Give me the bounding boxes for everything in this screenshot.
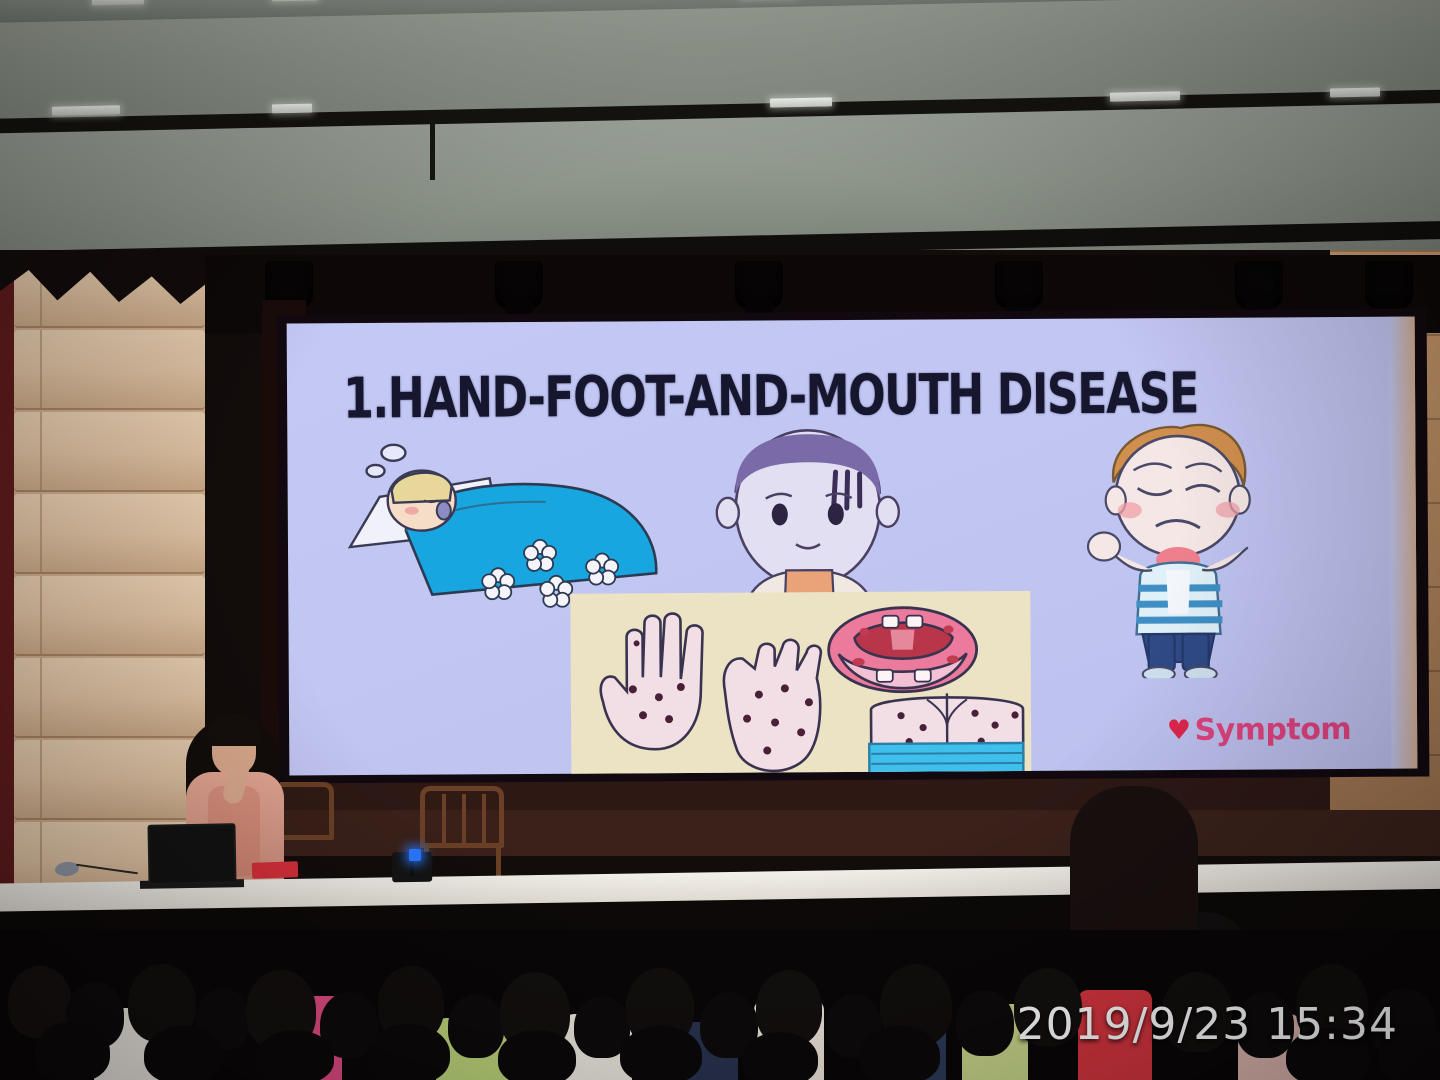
screen-light-spill <box>1389 317 1418 769</box>
buttocks-rash-icon <box>869 693 1023 774</box>
ceiling-light <box>52 105 120 115</box>
mouth-ulcer-icon <box>828 607 977 692</box>
projection-screen: 1.HAND-FOOT-AND-MOUTH DISEASE <box>287 317 1418 776</box>
red-folder <box>252 861 299 879</box>
projection-screen-frame: 1.HAND-FOOT-AND-MOUTH DISEASE <box>277 308 1430 783</box>
symptom-logo: ♥ Symptom <box>1167 712 1352 748</box>
ceiling-light <box>1330 87 1380 97</box>
ceiling <box>0 0 1440 252</box>
timestamp-overlay: 2019/9/23 15:34 <box>1017 999 1398 1050</box>
hanging-rod <box>430 118 435 180</box>
stage-spotlight <box>995 261 1043 309</box>
ceiling-light <box>770 97 832 107</box>
foot-rash-icon <box>724 640 822 772</box>
ceiling-light <box>1110 91 1180 101</box>
rash-symptom-panel <box>570 591 1031 776</box>
stage-spotlight <box>1235 261 1283 309</box>
laptop <box>147 823 236 885</box>
heart-icon: ♥ <box>1167 717 1191 744</box>
stage-spotlight <box>735 261 783 309</box>
symptom-logo-text: Symptom <box>1194 712 1351 748</box>
wall-accent-strip <box>0 258 14 898</box>
photo-scene: 1.HAND-FOOT-AND-MOUTH DISEASE <box>0 0 1440 1080</box>
ceiling-light <box>272 104 312 114</box>
hand-rash-icon <box>600 613 703 749</box>
microphone-led <box>409 849 421 861</box>
child-sore-throat-icon <box>1077 417 1279 678</box>
stage-spotlight <box>495 261 543 309</box>
stage-spotlight <box>1365 261 1413 309</box>
padded-wall-panels <box>0 258 205 898</box>
